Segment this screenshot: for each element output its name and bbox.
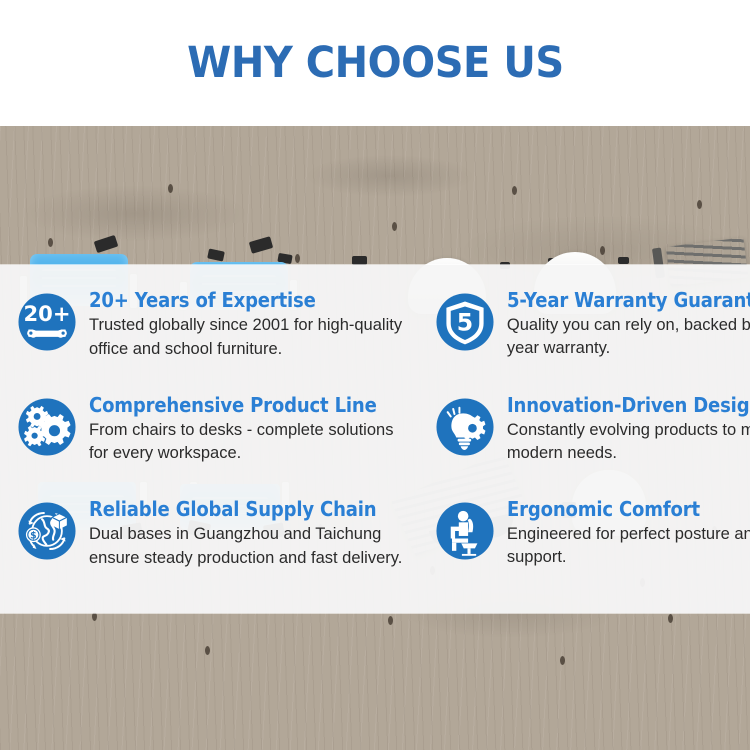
feature-description: Trusted globally since 2001 for high-qua…: [89, 314, 416, 361]
gears-icon: [16, 396, 78, 458]
page-title: WHY CHOOSE US: [187, 38, 564, 88]
feature-title: 20+ Years of Expertise: [89, 288, 377, 312]
svg-text:20+: 20+: [24, 301, 71, 326]
feature-item-warranty: 5 5-Year Warranty Guarantee Quality you …: [428, 287, 750, 392]
feature-title: Comprehensive Product Line: [89, 393, 377, 417]
svg-text:$: $: [30, 531, 36, 542]
feature-title: 5-Year Warranty Guarantee: [507, 288, 750, 312]
ergonomic-seated-person-icon: [434, 500, 496, 562]
shield-number: 5: [457, 309, 473, 337]
features-panel: 20+ 20+ Years of Expertise: [0, 265, 750, 613]
feature-description: Dual bases in Guangzhou and Taichung ens…: [89, 523, 416, 570]
feature-title: Innovation-Driven Design: [507, 393, 750, 417]
feature-description: Constantly evolving products to meet mod…: [507, 419, 750, 465]
feature-item-ergonomic: Ergonomic Comfort Engineered for perfect…: [428, 496, 750, 601]
globe-supply-chain-icon: $: [16, 500, 78, 562]
feature-item-expertise: 20+ 20+ Years of Expertise: [10, 287, 422, 392]
feature-item-supply-chain: $ Reliable Global Supply Chain Dual base…: [10, 496, 422, 601]
feature-item-innovation: Innovation-Driven Design Constantly evol…: [428, 392, 750, 497]
feature-description: Engineered for perfect posture and all-d…: [507, 523, 750, 569]
feature-description: Quality you can rely on, backed by a 5-y…: [507, 314, 750, 360]
feature-title: Reliable Global Supply Chain: [89, 497, 377, 521]
lightbulb-gear-icon: [434, 396, 496, 458]
heading-bar: WHY CHOOSE US: [0, 0, 750, 126]
why-choose-us-page: WHY CHOOSE US: [0, 0, 750, 750]
feature-item-product-line: Comprehensive Product Line From chairs t…: [10, 392, 422, 497]
shield-5-icon: 5: [434, 291, 496, 353]
feature-description: From chairs to desks - complete solution…: [89, 419, 416, 466]
20-plus-wrench-icon: 20+: [16, 291, 78, 353]
feature-title: Ergonomic Comfort: [507, 497, 750, 521]
